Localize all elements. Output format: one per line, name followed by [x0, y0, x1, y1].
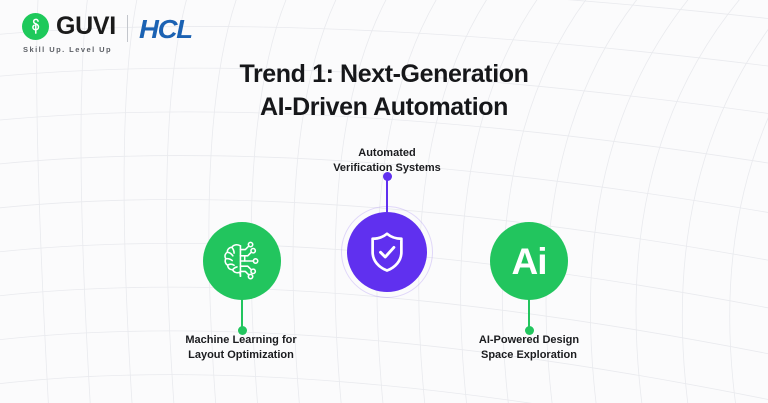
slide-canvas: GUVI Skill Up. Level Up HCL Trend 1: Nex… — [0, 0, 768, 403]
automated-verification-circle[interactable] — [347, 212, 427, 292]
verification-connector — [386, 176, 388, 216]
automated-verification-label: Automated Verification Systems — [287, 146, 487, 176]
machine-learning-label-line-1: Machine Learning for — [141, 333, 341, 348]
shield-check-icon — [362, 227, 412, 277]
verification-label-line-1: Automated — [287, 146, 487, 161]
guvi-wordmark: GUVI — [56, 14, 116, 39]
ai-powered-design-label-line-1: AI-Powered Design — [429, 333, 629, 348]
guvi-logo: GUVI Skill Up. Level Up — [22, 13, 116, 54]
machine-learning-label: Machine Learning for Layout Optimization — [141, 333, 341, 363]
guvi-logo-row: GUVI — [22, 13, 116, 40]
brain-circuit-icon — [217, 236, 267, 286]
ai-powered-design-circle[interactable]: Ai — [490, 222, 568, 300]
brand-logo-bar: GUVI Skill Up. Level Up HCL — [22, 13, 189, 54]
ai-powered-design-label-line-2: Space Exploration — [429, 348, 629, 363]
title-line-1: Trend 1: Next-Generation — [0, 58, 768, 91]
title-line-2: AI-Driven Automation — [0, 91, 768, 124]
page-title: Trend 1: Next-Generation AI-Driven Autom… — [0, 58, 768, 124]
guvi-g-glyph-icon — [22, 13, 49, 40]
machine-learning-label-line-2: Layout Optimization — [141, 348, 341, 363]
machine-learning-circle[interactable] — [203, 222, 281, 300]
vertical-divider — [127, 15, 128, 42]
verification-label-line-2: Verification Systems — [287, 161, 487, 176]
ai-text-icon: Ai — [512, 243, 547, 280]
hcl-wordmark: HCL — [139, 16, 192, 42]
ai-powered-design-label: AI-Powered Design Space Exploration — [429, 333, 629, 363]
guvi-tagline: Skill Up. Level Up — [23, 45, 116, 54]
